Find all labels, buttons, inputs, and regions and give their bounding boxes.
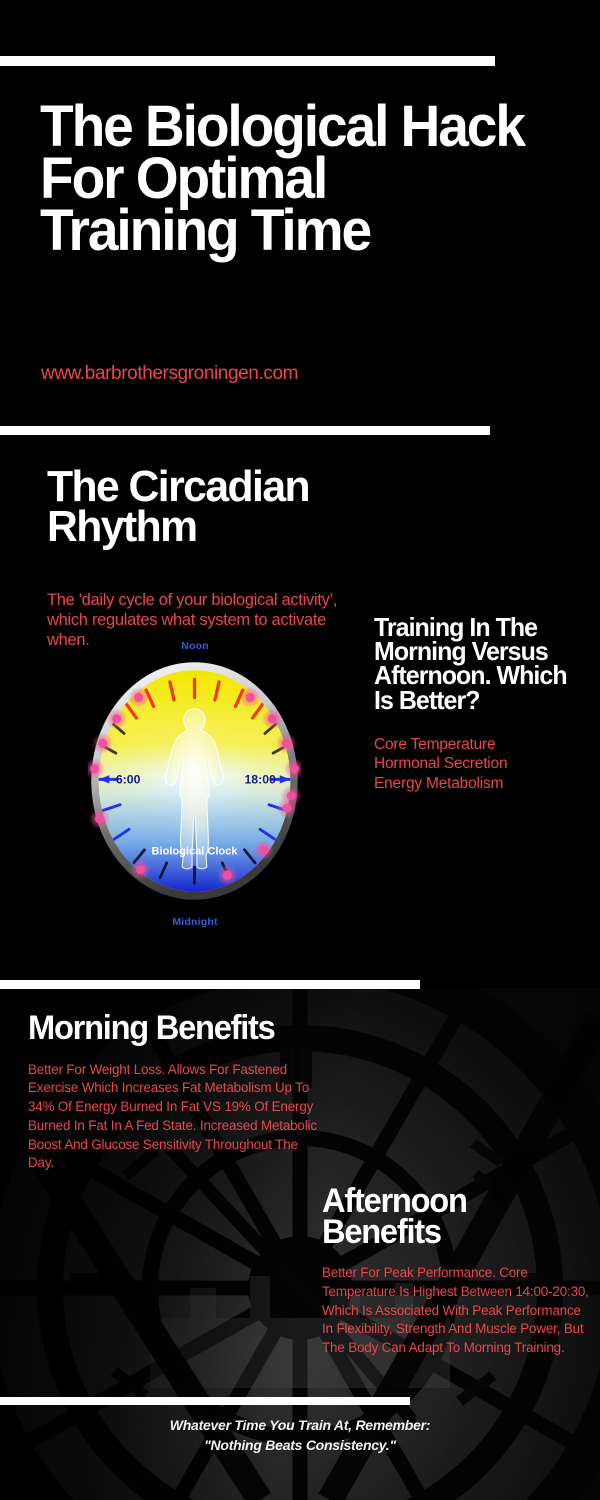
clock-left-time: 6:00 xyxy=(116,772,141,786)
infographic-page: The Biological Hack For Optimal Training… xyxy=(0,0,600,1500)
footer-line-1: Whatever Time You Train At, Remember: xyxy=(0,1416,600,1436)
circadian-heading: The Circadian Rhythm xyxy=(47,467,464,548)
afternoon-benefits-heading: Afternoon Benefits xyxy=(322,1186,581,1247)
morning-benefits-heading: Morning Benefits xyxy=(28,1013,306,1044)
divider-top xyxy=(0,56,495,66)
website-url[interactable]: www.barbrothersgroningen.com xyxy=(41,363,298,385)
clock-center-caption: Biological Clock xyxy=(152,846,239,858)
list-item: Core Temperature xyxy=(374,735,589,755)
training-factor-list: Core Temperature Hormonal Secretion Ener… xyxy=(374,735,589,794)
afternoon-benefits-body: Better For Peak Performance. Core Temper… xyxy=(322,1264,592,1358)
clock-midnight-label: Midnight xyxy=(70,916,320,928)
divider-benefits xyxy=(0,980,420,989)
divider-middle xyxy=(0,426,490,435)
footer-line-2: "Nothing Beats Consistency." xyxy=(0,1436,600,1456)
footer-quote: Whatever Time You Train At, Remember: "N… xyxy=(0,1416,600,1456)
training-comparison-section: Training In The Morning Versus Afternoon… xyxy=(374,615,589,794)
morning-benefits-body: Better For Weight Loss. Allows For Faste… xyxy=(28,1061,318,1174)
hero-section: The Biological Hack For Optimal Training… xyxy=(0,66,600,426)
divider-footer xyxy=(0,1397,410,1405)
morning-benefits-block: Morning Benefits Better For Weight Loss.… xyxy=(28,1013,318,1173)
clock-face-graphic: 6:00 18:00 Biological Clock xyxy=(88,658,301,904)
biological-clock-diagram: Noon Midnight xyxy=(70,640,320,940)
page-title: The Biological Hack For Optimal Training… xyxy=(40,101,534,258)
afternoon-benefits-block: Afternoon Benefits Better For Peak Perfo… xyxy=(322,1186,592,1358)
clock-right-time: 18:00 xyxy=(244,772,276,786)
list-item: Energy Metabolism xyxy=(374,774,589,794)
clock-noon-label: Noon xyxy=(70,640,320,652)
list-item: Hormonal Secretion xyxy=(374,754,589,774)
training-heading: Training In The Morning Versus Afternoon… xyxy=(374,615,580,712)
